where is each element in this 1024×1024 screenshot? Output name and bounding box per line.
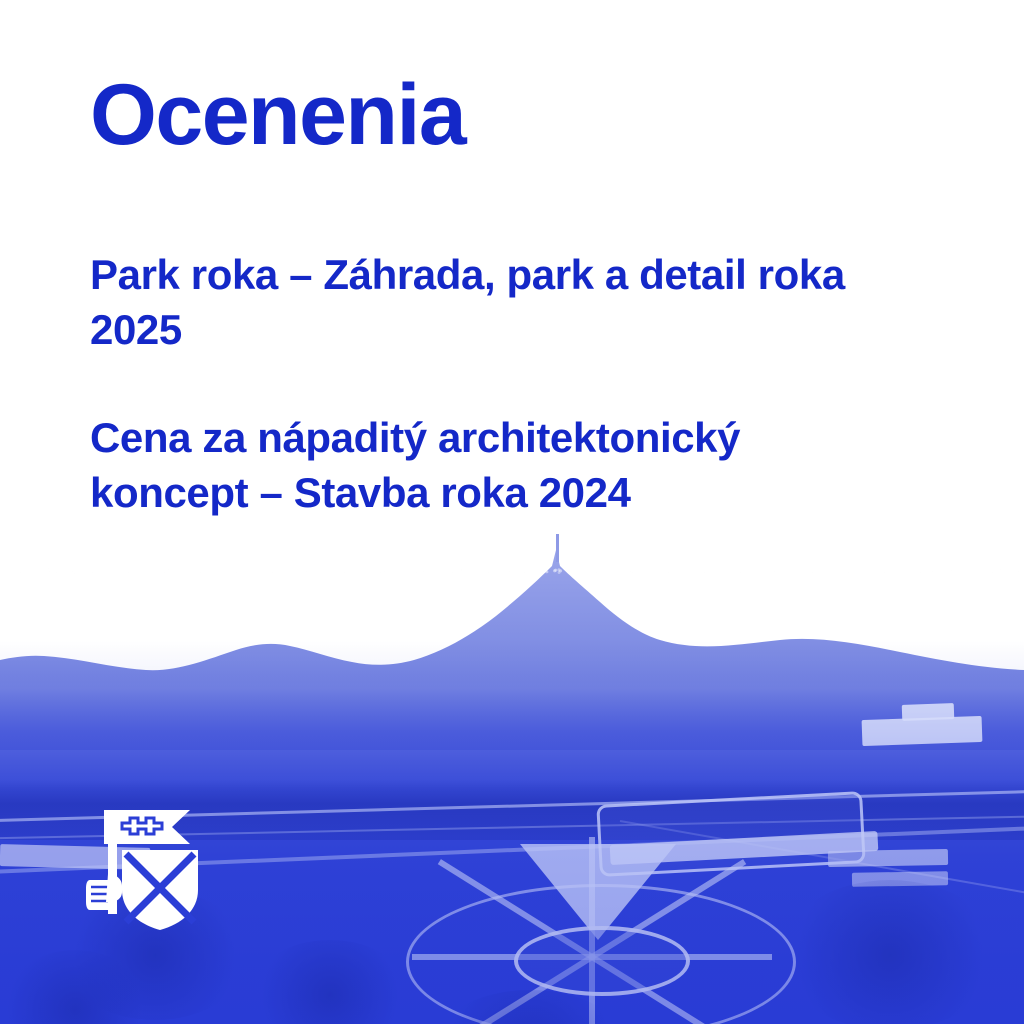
award-card: Ocenenia Park roka – Záhrada, park a det… (0, 0, 1024, 1024)
award-item: Park roka – Záhrada, park a detail roka … (90, 248, 900, 357)
photo-building (862, 716, 983, 746)
award-item: Cena za nápaditý architektonický koncept… (90, 411, 900, 520)
page-title: Ocenenia (90, 72, 465, 158)
awards-list: Park roka – Záhrada, park a detail roka … (90, 248, 900, 520)
photo-circular-park (396, 850, 800, 1024)
nitra-coat-of-arms-logo (86, 806, 204, 934)
photo-tree-clump (780, 880, 1000, 1024)
aerial-photo-nitra-zobor (0, 520, 1024, 1024)
photo-building (902, 703, 955, 721)
